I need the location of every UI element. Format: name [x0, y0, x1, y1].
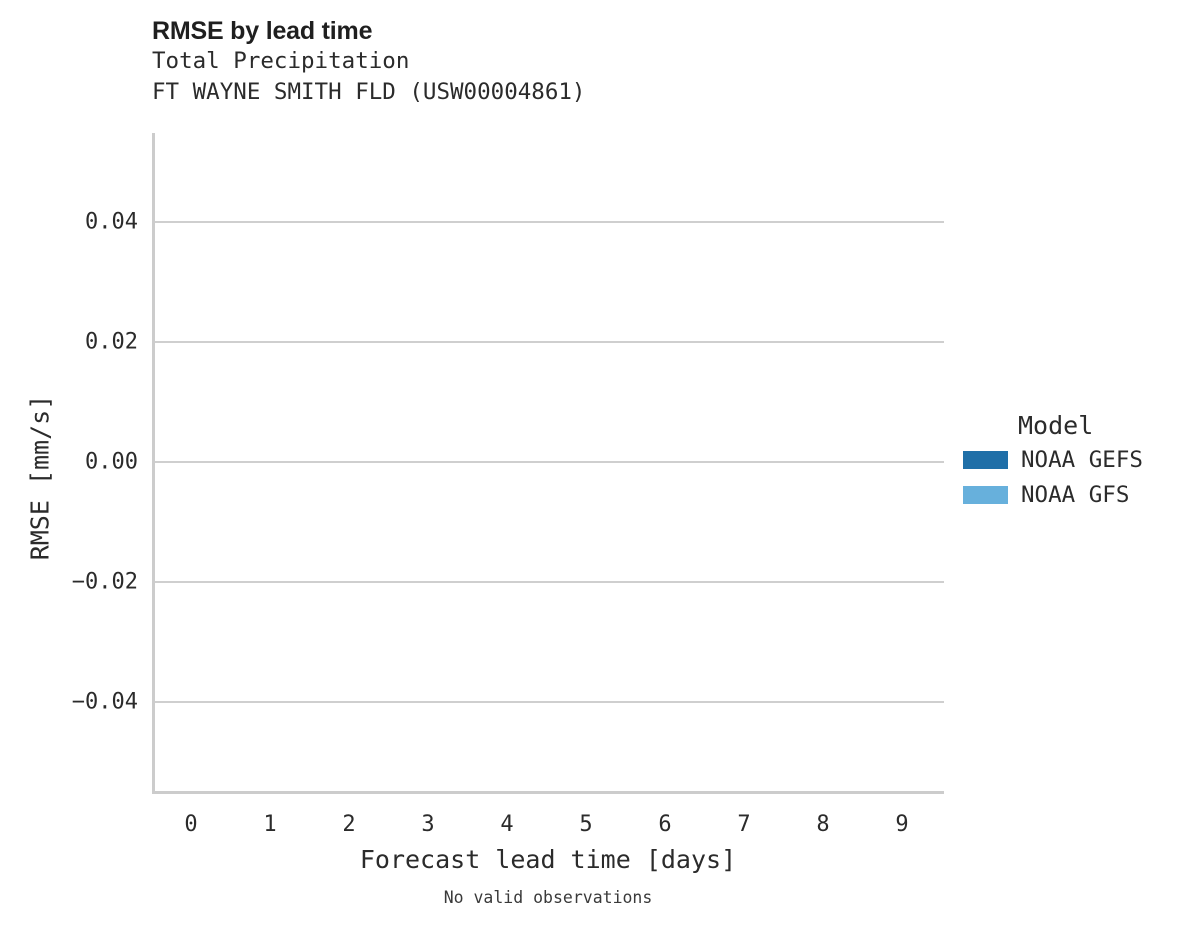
- legend-swatch-noaa-gefs: [963, 451, 1008, 469]
- x-tick-label: 4: [500, 812, 513, 837]
- x-tick-label: 5: [579, 812, 592, 837]
- chart-title: RMSE by lead time: [152, 16, 952, 46]
- y-tick-label: −0.04: [72, 690, 138, 715]
- legend-swatch-noaa-gfs: [963, 486, 1008, 504]
- title-block: RMSE by lead time Total Precipitation FT…: [152, 16, 952, 108]
- y-tick-label: 0.02: [85, 330, 138, 355]
- chart-subtitle-variable: Total Precipitation: [152, 46, 952, 77]
- y-tick-label: −0.02: [72, 570, 138, 595]
- legend-item-noaa-gfs[interactable]: NOAA GFS: [963, 477, 1178, 512]
- x-tick-label: 2: [342, 812, 355, 837]
- no-data-note: No valid observations: [152, 888, 944, 907]
- chart-figure: RMSE by lead time Total Precipitation FT…: [0, 0, 1182, 928]
- x-tick-label: 8: [816, 812, 829, 837]
- y-tick-label: 0.00: [85, 450, 138, 475]
- legend-item-noaa-gefs[interactable]: NOAA GEFS: [963, 442, 1178, 477]
- x-axis-label: Forecast lead time [days]: [152, 845, 944, 874]
- legend-label-noaa-gfs: NOAA GFS: [1021, 482, 1129, 508]
- y-axis-label: RMSE [mm/s]: [26, 278, 55, 678]
- x-tick-label: 6: [658, 812, 671, 837]
- legend-label-noaa-gefs: NOAA GEFS: [1021, 447, 1143, 473]
- x-tick-label: 7: [737, 812, 750, 837]
- chart-subtitle-station: FT WAYNE SMITH FLD (USW00004861): [152, 77, 952, 108]
- x-tick-label: 1: [263, 812, 276, 837]
- x-tick-label: 9: [895, 812, 908, 837]
- legend-title: Model: [1018, 410, 1178, 442]
- empty-series-overlay: [152, 133, 944, 794]
- legend: Model NOAA GEFS NOAA GFS: [963, 410, 1178, 512]
- x-tick-label: 0: [184, 812, 197, 837]
- y-tick-label: 0.04: [85, 210, 138, 235]
- x-tick-label: 3: [421, 812, 434, 837]
